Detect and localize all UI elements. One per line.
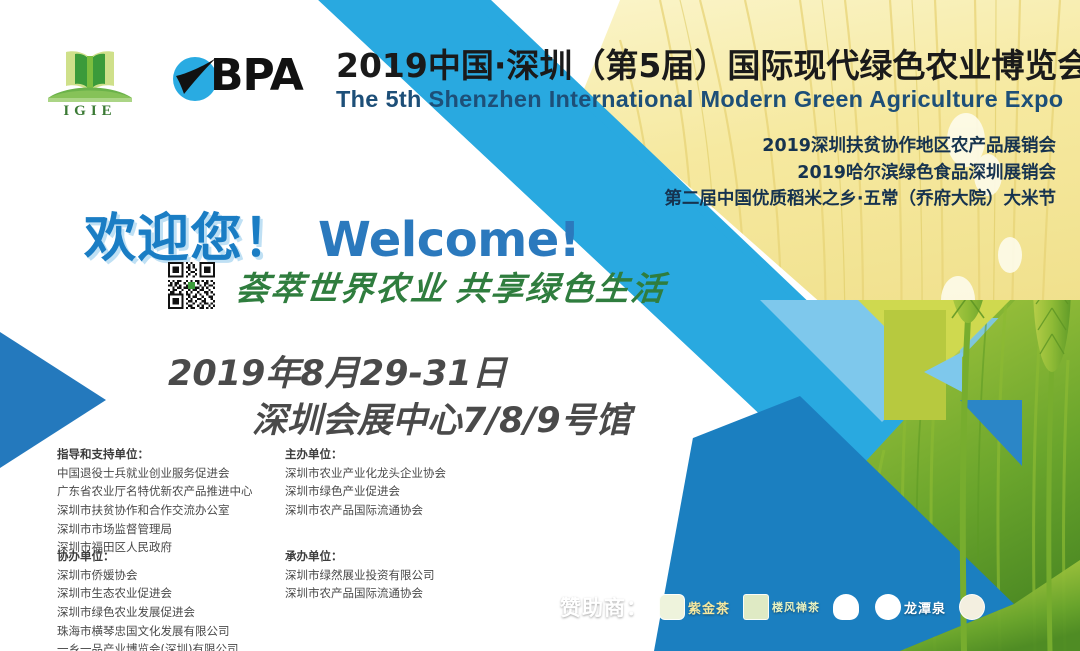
sub-event-item: 2019哈尔滨绿色食品深圳展销会 — [664, 160, 1056, 187]
sub-event-item: 2019深圳扶贫协作地区农产品展销会 — [664, 133, 1056, 160]
event-title-en: The 5th Shenzhen International Modern Gr… — [336, 86, 1056, 113]
sponsor-logo-loufengchancha[interactable]: 楼风禅茶 — [741, 592, 822, 622]
organizer-block-title: 协办单位： — [57, 547, 238, 566]
organizer-item: 深圳市侨媛协会 — [57, 566, 238, 585]
sponsor-name: 紫金茶 — [688, 598, 730, 617]
organizer-item: 深圳市生态农业促进会 — [57, 584, 238, 603]
organizer-block-organizer: 承办单位： 深圳市绿然展业投资有限公司 深圳市农产品国际流通协会 — [285, 547, 435, 603]
organizer-item: 深圳市农产品国际流通协会 — [285, 584, 435, 603]
sponsor-logo-zijincha[interactable]: 紫金茶 — [657, 592, 732, 622]
organizer-item: 深圳市农业产业化龙头企业协会 — [285, 464, 446, 483]
sponsor-badge-icon — [875, 594, 901, 620]
organizer-item: 珠海市横琴忠国文化发展有限公司 — [57, 622, 238, 641]
organizer-block-title: 承办单位： — [285, 547, 435, 566]
sponsor-badge-icon — [833, 594, 859, 620]
sub-events-list: 2019深圳扶贫协作地区农产品展销会 2019哈尔滨绿色食品深圳展销会 第二届中… — [664, 133, 1056, 213]
organizer-item: 深圳市绿然展业投资有限公司 — [285, 566, 435, 585]
sponsors-row: 赞助商： 紫金茶 楼风禅茶 龙潭泉 — [560, 592, 990, 622]
igie-logo: IGIE — [40, 46, 140, 120]
welcome-text-cn: 欢迎您！ — [84, 196, 296, 271]
sponsors-label: 赞助商： — [560, 592, 648, 622]
organizer-block-host: 主办单位： 深圳市农业产业化龙头企业协会 深圳市绿色产业促进会 深圳市农产品国际… — [285, 445, 446, 520]
sponsor-logo-shengtaishui[interactable] — [831, 592, 864, 622]
welcome-text-en: Welcome! — [318, 212, 580, 268]
igie-logo-mark — [40, 46, 140, 104]
sponsor-name: 龙潭泉 — [904, 598, 946, 617]
sponsor-name: 楼风禅茶 — [772, 599, 820, 615]
organizer-item: 深圳市绿色产业促进会 — [285, 482, 446, 501]
organizer-block-title: 主办单位： — [285, 445, 446, 464]
sub-event-item: 第二届中国优质稻米之乡·五常（乔府大院）大米节 — [664, 186, 1056, 213]
igie-logo-label: IGIE — [40, 103, 140, 120]
sponsor-badge-icon — [959, 594, 985, 620]
organizer-item: 深圳市农产品国际流通协会 — [285, 501, 446, 520]
sponsor-badge-icon — [659, 594, 685, 620]
organizer-item: 一乡一品产业博览会(深圳)有限公司 — [57, 640, 238, 651]
qr-code[interactable] — [168, 262, 215, 309]
bpa-logo-text: BPA — [210, 50, 303, 101]
slogan-text: 荟萃世界农业 共享绿色生活 — [233, 262, 668, 310]
organizer-item: 深圳市绿色农业发展促进会 — [57, 603, 238, 622]
poster-canvas: IGIE BPA 2019中国·深圳（第5届）国际现代绿色农业博览会 The 5… — [0, 0, 1080, 651]
organizer-block-coorganizer: 协办单位： 深圳市侨媛协会 深圳市生态农业促进会 深圳市绿色农业发展促进会 珠海… — [57, 547, 238, 651]
organizer-item: 中国退役士兵就业创业服务促进会 — [57, 464, 253, 483]
event-title-block: 2019中国·深圳（第5届）国际现代绿色农业博览会 The 5th Shenzh… — [336, 48, 1056, 113]
welcome-heading: 欢迎您！ Welcome! — [84, 196, 580, 271]
sponsor-badge-icon — [743, 594, 769, 620]
organizer-block-title: 指导和支持单位： — [57, 445, 253, 464]
sponsor-logo-chaye[interactable] — [957, 592, 990, 622]
organizer-item: 深圳市扶贫协作和合作交流办公室 — [57, 501, 253, 520]
organizer-item: 深圳市市场监督管理局 — [57, 520, 253, 539]
organizer-block-guide: 指导和支持单位： 中国退役士兵就业创业服务促进会 广东省农业厅名特优新农产品推进… — [57, 445, 253, 557]
event-date: 2019年8月29-31日 — [168, 345, 507, 396]
bpa-logo: BPA — [170, 52, 310, 104]
event-title-cn: 2019中国·深圳（第5届）国际现代绿色农业博览会 — [336, 48, 1056, 85]
sponsor-logo-longtanquan[interactable]: 龙潭泉 — [873, 592, 948, 622]
event-venue: 深圳会展中心7/8/9号馆 — [252, 392, 631, 443]
organizer-item: 广东省农业厅名特优新农产品推进中心 — [57, 482, 253, 501]
qr-code-image — [168, 262, 215, 309]
